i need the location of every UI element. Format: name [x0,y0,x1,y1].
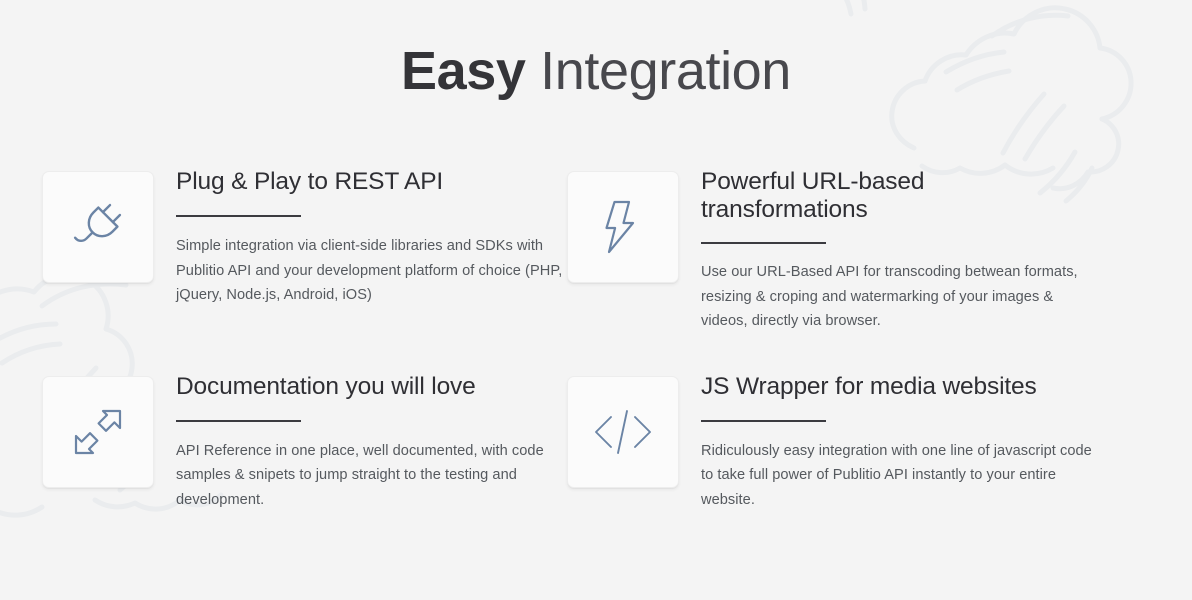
feature-text-block: Powerful URL-based transformations Use o… [701,168,1092,334]
feature-card-js-wrapper: JS Wrapper for media websites Ridiculous… [567,373,1092,513]
feature-divider [701,420,826,422]
feature-description: Ridiculously easy integration with one l… [701,439,1092,513]
feature-title: Documentation you will love [176,373,567,401]
page-title-light [526,41,541,101]
feature-title: Powerful URL-based transformations [701,168,1092,224]
feature-divider [176,215,301,217]
feature-text-block: JS Wrapper for media websites Ridiculous… [701,373,1092,513]
feature-title: Plug & Play to REST API [176,168,567,196]
code-brackets-icon [590,403,656,461]
feature-title: JS Wrapper for media websites [701,373,1092,401]
feature-icon-box [567,376,679,488]
feature-text-block: Plug & Play to REST API Simple integrati… [176,168,567,308]
feature-card-plug-and-play: Plug & Play to REST API Simple integrati… [42,168,567,334]
feature-description: Use our URL-Based API for transcoding be… [701,260,1092,334]
page-title-light-text: Integration [540,41,791,101]
feature-description: API Reference in one place, well documen… [176,439,567,513]
page-title: Easy Integration [0,38,1192,104]
feature-description: Simple integration via client-side libra… [176,234,567,308]
feature-icon-box [42,376,154,488]
page-title-strong: Easy [401,41,526,101]
feature-divider [176,420,301,422]
feature-divider [701,242,826,244]
feature-icon-box [567,171,679,283]
feature-icon-box [42,171,154,283]
expand-arrows-icon [69,403,127,461]
feature-card-documentation: Documentation you will love API Referenc… [42,373,567,513]
plug-icon [68,197,128,257]
feature-text-block: Documentation you will love API Referenc… [176,373,567,513]
feature-grid: Plug & Play to REST API Simple integrati… [0,168,1192,513]
feature-card-url-transformations: Powerful URL-based transformations Use o… [567,168,1092,334]
lightning-bolt-icon [593,197,653,257]
